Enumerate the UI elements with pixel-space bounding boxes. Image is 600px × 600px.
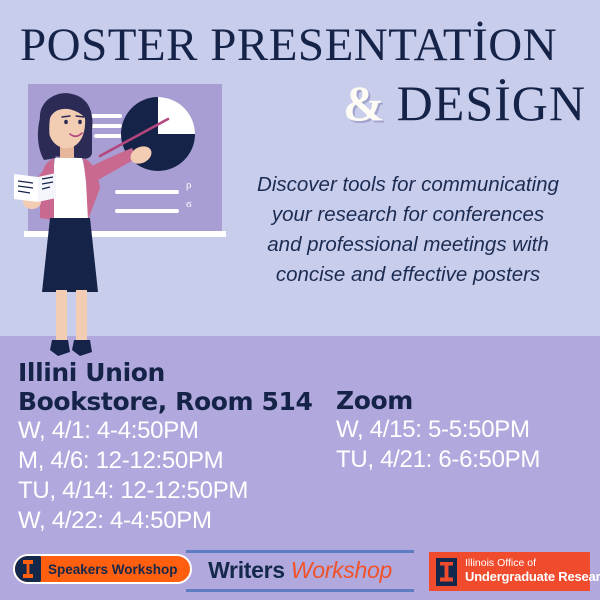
logo-writers-label: Writers [208,557,285,583]
schedule-column-illini-union: Illini Union Bookstore, Room 514 W, 4/1:… [18,358,338,536]
schedule-session: M, 4/6: 12-12:50PM [18,446,338,476]
logo-ugr-line-2: Undergraduate Research [465,570,600,585]
poster-flyer: POSTER PRESENTATİON &DESİGN Discover too… [0,0,600,600]
schedule-heading-line: Bookstore, Room 514 [18,387,338,416]
schedule-session: TU, 4/21: 6-6:50PM [336,445,594,475]
schedule-session: W, 4/22: 4-4:50PM [18,506,338,536]
description-line: concise and effective posters [228,260,588,290]
schedule-heading-line: Zoom [336,386,594,415]
description-line: and professional meetings with [228,230,588,260]
logo-speakers-workshop-label: Speakers Workshop [48,562,178,577]
description-text: Discover tools for communicating your re… [228,170,588,290]
schedule-session: W, 4/15: 5-5:50PM [336,415,594,445]
description-line: Discover tools for communicating [228,170,588,200]
svg-text:ϭ: ϭ [186,198,192,210]
logo-workshop-label: Workshop [291,557,392,583]
illinois-block-i-icon [436,558,457,586]
logo-undergraduate-research: Illinois Office of Undergraduate Researc… [429,552,590,591]
schedule-column-zoom: Zoom W, 4/15: 5-5:50PM TU, 4/21: 6-6:50P… [336,386,594,475]
footer-logo-bar: Speakers Workshop WritersWorkshop Illino… [0,548,600,600]
logo-speakers-workshop: Speakers Workshop [13,554,192,584]
paper-icon [14,173,56,202]
logo-undergraduate-research-text: Illinois Office of Undergraduate Researc… [465,558,600,584]
schedule-heading-line: Illini Union [18,358,338,387]
page-title-line-1: POSTER PRESENTATİON [20,20,586,70]
schedule-session: W, 4/1: 4-4:50PM [18,416,338,446]
logo-writers-workshop: WritersWorkshop [186,550,414,592]
schedule-session: TU, 4/14: 12-12:50PM [18,476,338,506]
description-line: your research for conferences [228,200,588,230]
illinois-block-i-icon [15,556,41,582]
page-title-design-word: DESİGN [397,75,586,131]
presenter-illustration: ρ ϭ [0,78,240,368]
ampersand-glyph: & [343,75,385,131]
svg-text:ρ: ρ [186,179,192,191]
